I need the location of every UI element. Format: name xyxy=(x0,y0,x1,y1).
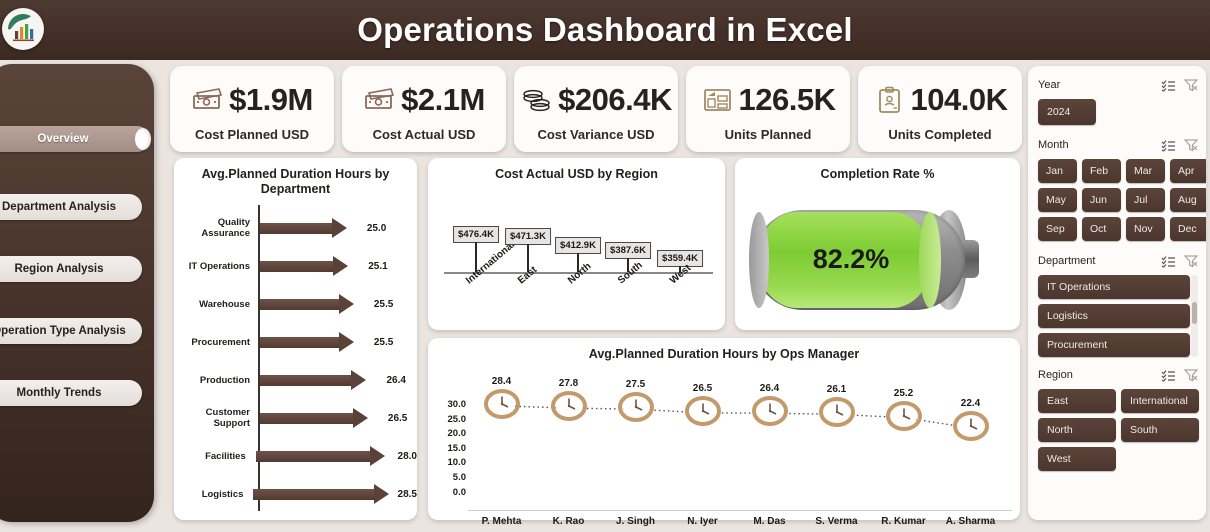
chart-panel-department-duration: Avg.Planned Duration Hours by Department… xyxy=(174,158,417,520)
department-category-label: Facilities xyxy=(174,451,250,462)
sidebar-item-overview[interactable]: Overview xyxy=(0,126,150,152)
y-axis-tick-label: 30.0 xyxy=(430,398,466,413)
sidebar-item-label: Overview xyxy=(37,133,88,145)
slicer-icons xyxy=(1161,139,1198,152)
banknotes-icon xyxy=(363,85,397,115)
arrow-bar xyxy=(260,370,366,390)
slicer-icons xyxy=(1161,369,1198,382)
arrow-bar xyxy=(253,484,377,504)
department-scrollbar-thumb[interactable] xyxy=(1192,302,1197,324)
chart-panel-completion-rate: Completion Rate % 82.2% xyxy=(735,158,1020,330)
slicer-title: Month xyxy=(1038,139,1069,151)
app-header: Operations Dashboard in Excel xyxy=(0,0,1210,60)
y-axis-ticks: 30.025.020.015.010.05.00.0 xyxy=(430,398,466,500)
slicer-tile-region-international[interactable]: International xyxy=(1121,389,1199,413)
kpi-value: $206.4K xyxy=(558,82,672,118)
kpi-label: Cost Actual USD xyxy=(373,127,476,142)
slicer-tile-department-it-operations[interactable]: IT Operations xyxy=(1038,275,1190,299)
slicer-tile-month-oct[interactable]: Oct xyxy=(1082,217,1121,241)
department-category-label: IT Operations xyxy=(174,261,254,272)
slicer-tile-month-dec[interactable]: Dec xyxy=(1170,217,1206,241)
slicer-tile-year-2024[interactable]: 2024 xyxy=(1038,99,1096,125)
department-bar-row: Procurement25.5 xyxy=(174,323,417,361)
slicer-tile-region-south[interactable]: South xyxy=(1121,418,1199,442)
manager-data-point: 26.4 xyxy=(751,383,789,431)
sidebar-item-label: Operation Type Analysis xyxy=(0,325,126,337)
slicer-department-tiles: IT OperationsLogisticsProcurement xyxy=(1038,275,1198,357)
sidebar-item-operation-type-analysis[interactable]: Operation Type Analysis xyxy=(0,318,142,344)
region-value-label: $476.4K xyxy=(453,226,499,243)
manager-value-label: 27.5 xyxy=(617,379,655,390)
slicer-title: Region xyxy=(1038,369,1073,381)
kpi-top: $1.9M xyxy=(191,77,313,123)
clear-filter-icon[interactable] xyxy=(1184,255,1198,268)
region-category-label: East xyxy=(516,264,539,286)
clear-filter-icon[interactable] xyxy=(1184,369,1198,382)
y-axis-tick-label: 25.0 xyxy=(430,413,466,428)
manager-value-label: 26.4 xyxy=(751,383,789,394)
multi-select-icon[interactable] xyxy=(1161,255,1176,268)
kpi-top: 126.5K xyxy=(701,77,836,123)
manager-data-point: 25.2 xyxy=(885,388,923,436)
kpi-card-cost-planned: $1.9M Cost Planned USD xyxy=(170,66,334,152)
manager-data-point: 22.4 xyxy=(952,398,990,446)
department-scrollbar-track[interactable] xyxy=(1191,275,1198,357)
dashboard-page: Operations Dashboard in Excel Overview D… xyxy=(0,0,1210,532)
slicer-header-region: Region xyxy=(1038,366,1198,384)
coins-stack-icon xyxy=(520,85,554,115)
filter-panel: Year 2024 Month xyxy=(1028,66,1206,520)
department-category-label: Procurement xyxy=(174,337,254,348)
slicer-tile-month-aug[interactable]: Aug xyxy=(1170,188,1206,212)
slicer-tile-month-jun[interactable]: Jun xyxy=(1082,188,1121,212)
y-axis-tick-label: 10.0 xyxy=(430,456,466,471)
kpi-value: 126.5K xyxy=(739,82,836,118)
department-category-label: Logistics xyxy=(174,489,247,500)
slicer-tile-month-may[interactable]: May xyxy=(1038,188,1077,212)
department-value-label: 26.5 xyxy=(388,413,407,424)
kpi-label: Units Completed xyxy=(888,127,991,142)
department-value-label: 25.0 xyxy=(367,223,386,234)
kpi-top: 104.0K xyxy=(873,77,1008,123)
manager-value-label: 26.1 xyxy=(818,384,856,395)
department-category-label: Production xyxy=(174,375,254,386)
department-value-label: 25.5 xyxy=(374,337,393,348)
chart-title: Avg.Planned Duration Hours by Ops Manage… xyxy=(428,338,1020,362)
gauge-value: 82.2% xyxy=(735,244,967,275)
clear-filter-icon[interactable] xyxy=(1184,79,1198,92)
slicer-department-list: IT OperationsLogisticsProcurement xyxy=(1038,275,1198,357)
clock-icon xyxy=(483,389,521,419)
kpi-label: Cost Planned USD xyxy=(195,127,309,142)
manager-category-label: M. Das xyxy=(753,516,785,527)
manager-value-label: 26.5 xyxy=(684,383,722,394)
slicer-tile-department-logistics[interactable]: Logistics xyxy=(1038,304,1190,328)
clock-icon xyxy=(617,392,655,422)
y-axis-tick-label: 15.0 xyxy=(430,442,466,457)
sidebar-item-monthly-trends[interactable]: Monthly Trends xyxy=(0,380,142,406)
blueprint-icon xyxy=(701,85,735,115)
battery-gauge: 82.2% xyxy=(735,182,1020,312)
sidebar-item-label: Region Analysis xyxy=(14,263,103,275)
department-arrow-chart: Quality Assurance25.0IT Operations25.1Wa… xyxy=(174,203,417,521)
slicer-title: Department xyxy=(1038,255,1095,267)
slicer-title: Year xyxy=(1038,79,1060,91)
department-value-label: 25.5 xyxy=(374,299,393,310)
chart-title: Completion Rate % xyxy=(735,158,1020,182)
slicer-header-department: Department xyxy=(1038,252,1198,270)
arrow-bar xyxy=(260,408,368,428)
manager-data-point: 26.5 xyxy=(684,383,722,431)
sidebar-item-department-analysis[interactable]: Department Analysis xyxy=(0,194,142,220)
chart-panel-region-cost: Cost Actual USD by Region $476.4KInterna… xyxy=(428,158,725,330)
y-axis-tick-label: 0.0 xyxy=(430,486,466,501)
region-signpost-chart: $476.4KInternational$471.3KEast$412.9KNo… xyxy=(428,184,725,324)
slicer-region-grid: EastInternationalNorthSouthWest xyxy=(1038,389,1198,471)
department-bar-row: Facilities28.0 xyxy=(174,437,417,475)
clock-icon xyxy=(684,396,722,426)
manager-trend-line xyxy=(468,374,1004,514)
manager-data-point: 27.8 xyxy=(550,378,588,426)
bar-chart-globe-logo-icon xyxy=(5,11,41,47)
manager-category-label: J. Singh xyxy=(616,516,655,527)
clock-icon xyxy=(550,391,588,421)
slicer-tile-month-mar[interactable]: Mar xyxy=(1126,159,1165,183)
department-category-label: Warehouse xyxy=(174,299,254,310)
region-value-label: $387.6K xyxy=(605,242,651,259)
kpi-top: $206.4K xyxy=(520,77,672,123)
region-category-label: North xyxy=(566,261,594,287)
kpi-label: Cost Variance USD xyxy=(537,127,654,142)
kpi-card-row: $1.9M Cost Planned USD $2.1M Cost Actual… xyxy=(170,66,1022,152)
kpi-card-cost-actual: $2.1M Cost Actual USD xyxy=(342,66,506,152)
manager-value-label: 25.2 xyxy=(885,388,923,399)
slicer-tile-month-nov[interactable]: Nov xyxy=(1126,217,1165,241)
slicer-tile-month-feb[interactable]: Feb xyxy=(1082,159,1121,183)
region-value-label: $359.4K xyxy=(657,250,703,267)
department-bar-row: IT Operations25.1 xyxy=(174,247,417,285)
y-axis-tick-label: 5.0 xyxy=(430,471,466,486)
slicer-tile-month-apr[interactable]: Apr xyxy=(1170,159,1206,183)
manager-value-label: 27.8 xyxy=(550,378,588,389)
kpi-value: 104.0K xyxy=(911,82,1008,118)
slicer-icons xyxy=(1161,79,1198,92)
kpi-value: $1.9M xyxy=(229,82,313,118)
department-bar-row: Quality Assurance25.0 xyxy=(174,209,417,247)
slicer-tile-month-sep[interactable]: Sep xyxy=(1038,217,1077,241)
arrow-bar xyxy=(256,446,378,466)
clock-icon xyxy=(952,411,990,441)
department-category-label: Quality Assurance xyxy=(174,217,254,239)
app-logo xyxy=(2,8,44,50)
manager-clock-line-chart: 30.025.020.015.010.05.00.0 28.4P. Mehta2… xyxy=(428,364,1020,516)
kpi-top: $2.1M xyxy=(363,77,485,123)
manager-value-label: 22.4 xyxy=(952,398,990,409)
kpi-value: $2.1M xyxy=(401,82,485,118)
slicer-tile-region-east[interactable]: East xyxy=(1038,389,1116,413)
kpi-label: Units Planned xyxy=(725,127,812,142)
kpi-card-cost-variance: $206.4K Cost Variance USD xyxy=(514,66,678,152)
sidebar-item-label: Monthly Trends xyxy=(17,387,102,399)
manager-value-label: 28.4 xyxy=(483,376,521,387)
manager-category-label: A. Sharma xyxy=(946,516,995,527)
sidebar-item-label: Department Analysis xyxy=(2,201,116,213)
arrow-bar xyxy=(260,294,354,314)
y-axis-tick-label: 20.0 xyxy=(430,427,466,442)
manager-category-label: K. Rao xyxy=(553,516,585,527)
clock-icon xyxy=(751,396,789,426)
manager-category-label: P. Mehta xyxy=(482,516,522,527)
sidebar-nav: Overview Department Analysis Region Anal… xyxy=(0,64,154,522)
slicer-icons xyxy=(1161,255,1198,268)
manager-category-label: N. Iyer xyxy=(687,516,718,527)
region-value-label: $471.3K xyxy=(505,228,551,245)
manager-category-label: S. Verma xyxy=(815,516,857,527)
slicer-tile-month-jan[interactable]: Jan xyxy=(1038,159,1077,183)
department-value-label: 28.5 xyxy=(398,489,417,500)
region-value-label: $412.9K xyxy=(555,237,601,254)
chart-title: Cost Actual USD by Region xyxy=(428,158,725,182)
page-title: Operations Dashboard in Excel xyxy=(357,11,852,49)
department-value-label: 28.0 xyxy=(398,451,417,462)
multi-select-icon[interactable] xyxy=(1161,79,1176,92)
region-category-label: International xyxy=(464,239,517,286)
manager-data-point: 26.1 xyxy=(818,384,856,432)
chart-panel-manager-duration: Avg.Planned Duration Hours by Ops Manage… xyxy=(428,338,1020,520)
chart-title: Avg.Planned Duration Hours by Department xyxy=(174,158,417,197)
clock-icon xyxy=(818,397,856,427)
clear-filter-icon[interactable] xyxy=(1184,139,1198,152)
department-value-label: 25.1 xyxy=(368,261,387,272)
department-category-label: Customer Support xyxy=(174,407,254,429)
multi-select-icon[interactable] xyxy=(1161,139,1176,152)
slicer-tile-department-procurement[interactable]: Procurement xyxy=(1038,333,1190,357)
kpi-card-units-planned: 126.5K Units Planned xyxy=(686,66,850,152)
arrow-bar xyxy=(260,218,347,238)
manager-data-point: 28.4 xyxy=(483,376,521,424)
department-bar-row: Customer Support26.5 xyxy=(174,399,417,437)
slicer-header-year: Year xyxy=(1038,76,1198,94)
department-bar-row: Logistics28.5 xyxy=(174,475,417,513)
manager-data-point: 27.5 xyxy=(617,379,655,427)
plot-area: 28.4P. Mehta27.8K. Rao27.5J. Singh26.5N.… xyxy=(468,374,1012,514)
slicer-tile-month-jul[interactable]: Jul xyxy=(1126,188,1165,212)
multi-select-icon[interactable] xyxy=(1161,369,1176,382)
clock-icon xyxy=(885,401,923,431)
clipboard-check-icon xyxy=(873,85,907,115)
slicer-tile-region-west[interactable]: West xyxy=(1038,447,1116,471)
slicer-tile-region-north[interactable]: North xyxy=(1038,418,1116,442)
arrow-bar xyxy=(260,256,348,276)
department-bar-row: Warehouse25.5 xyxy=(174,285,417,323)
kpi-card-units-completed: 104.0K Units Completed xyxy=(858,66,1022,152)
slicer-header-month: Month xyxy=(1038,136,1198,154)
slicer-month-grid: JanFebMarAprMayJunJulAugSepOctNovDec xyxy=(1038,159,1198,241)
sidebar-item-region-analysis[interactable]: Region Analysis xyxy=(0,256,142,282)
manager-category-label: R. Kumar xyxy=(881,516,925,527)
department-bar-row: Production26.4 xyxy=(174,361,417,399)
arrow-bar xyxy=(260,332,354,352)
department-value-label: 26.4 xyxy=(386,375,405,386)
banknotes-icon xyxy=(191,85,225,115)
